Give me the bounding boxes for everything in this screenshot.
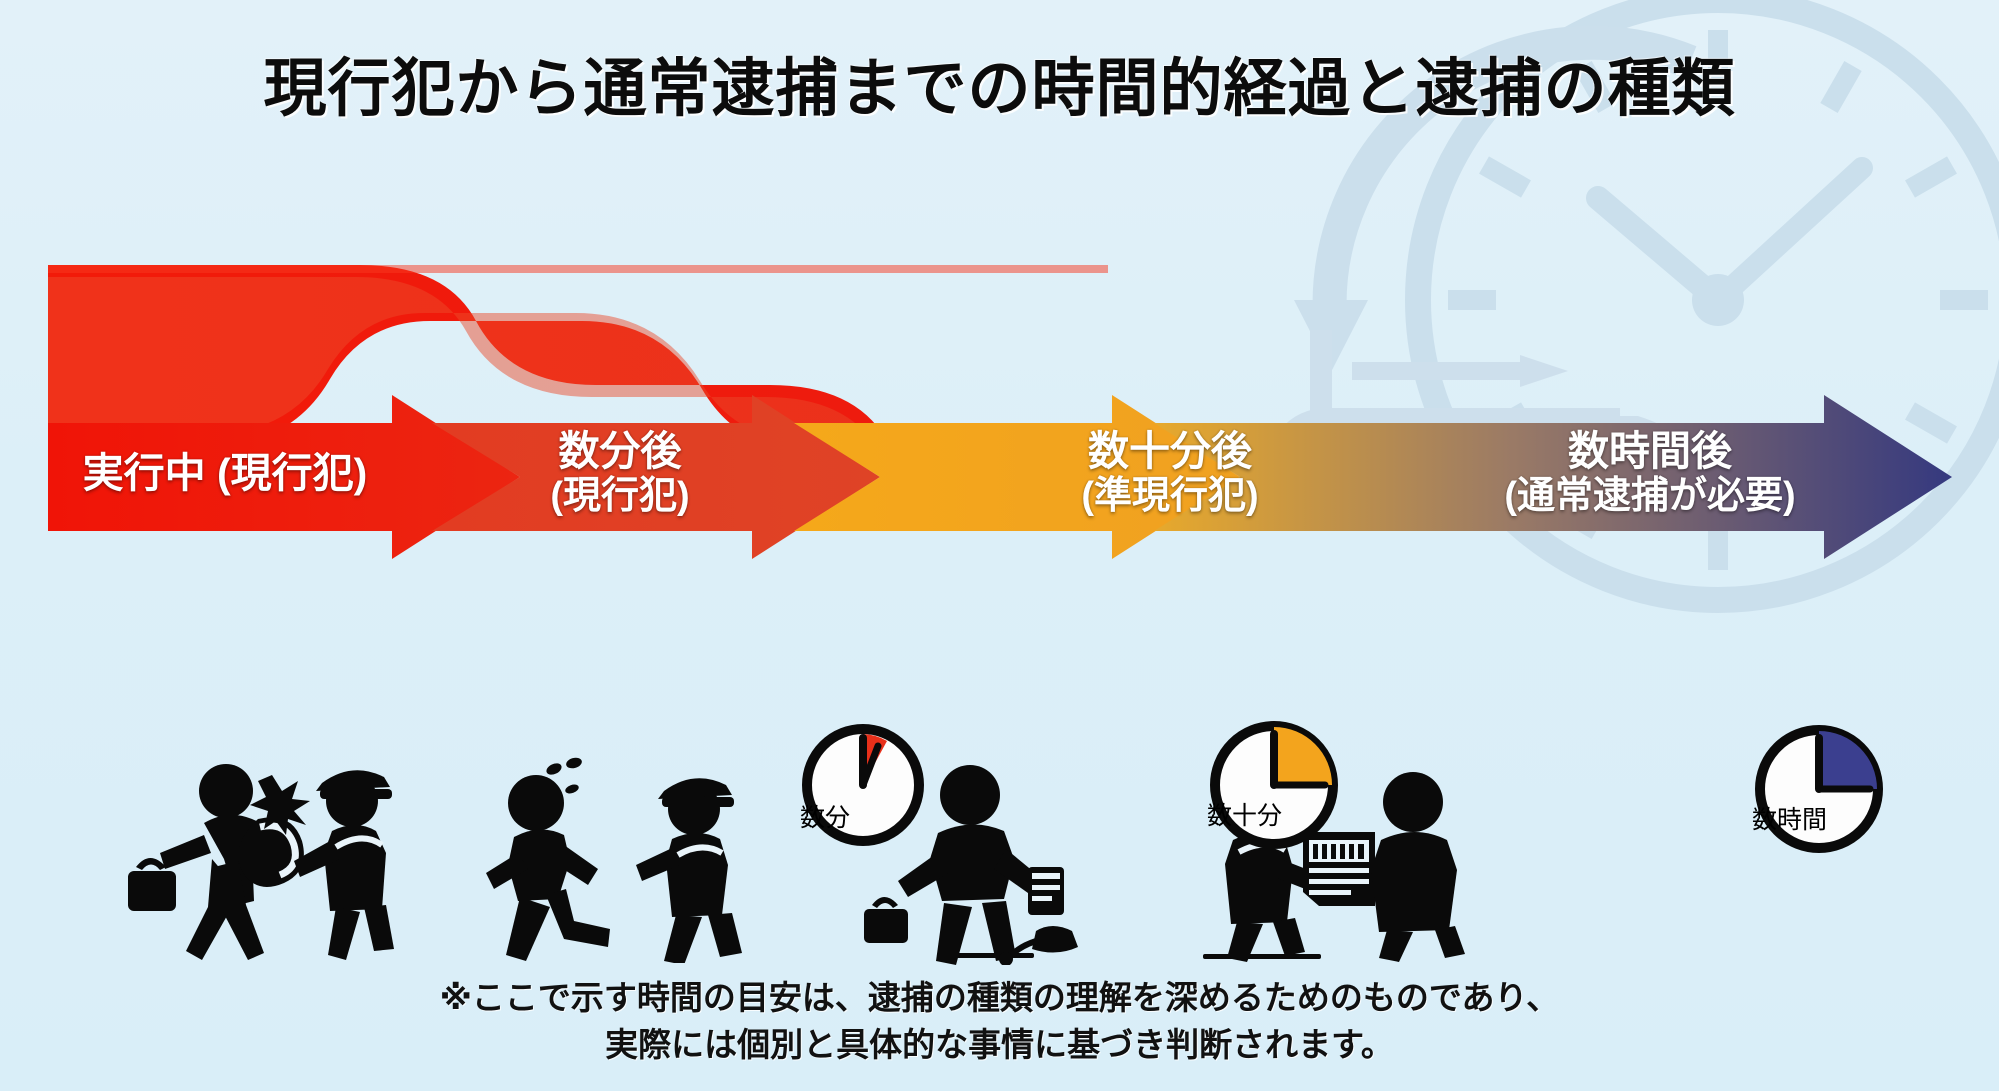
timeline-chevrons [48, 395, 1952, 559]
page-title: 現行犯から通常逮捕までの時間的経過と逮捕の種類 [0, 38, 1999, 129]
fleeing-suspect-pictogram [480, 745, 780, 963]
clock-label-tens-of-minutes: 数十分 [1207, 718, 1341, 852]
timeline-arrow-band [0, 255, 1999, 575]
footnote-line-2: 実際には個別と具体的な事情に基づき判断されます。 [0, 1022, 1999, 1069]
infographic-canvas: 現行犯から通常逮捕までの時間的経過と逮捕の種類 [0, 0, 1999, 1091]
clock-label-minutes: 数分 [800, 722, 926, 848]
theft-in-progress-pictogram [100, 735, 410, 960]
footnote: ※ここで示す時間の目安は、逮捕の種類の理解を深めるためのものであり、 実際には個… [0, 975, 1999, 1069]
chevron-segment-4 [1154, 395, 1952, 559]
footnote-line-1: ※ここで示す時間の目安は、逮捕の種類の理解を深めるためのものであり、 [0, 975, 1999, 1022]
clock-label-hours: 数時間 [1752, 722, 1886, 856]
